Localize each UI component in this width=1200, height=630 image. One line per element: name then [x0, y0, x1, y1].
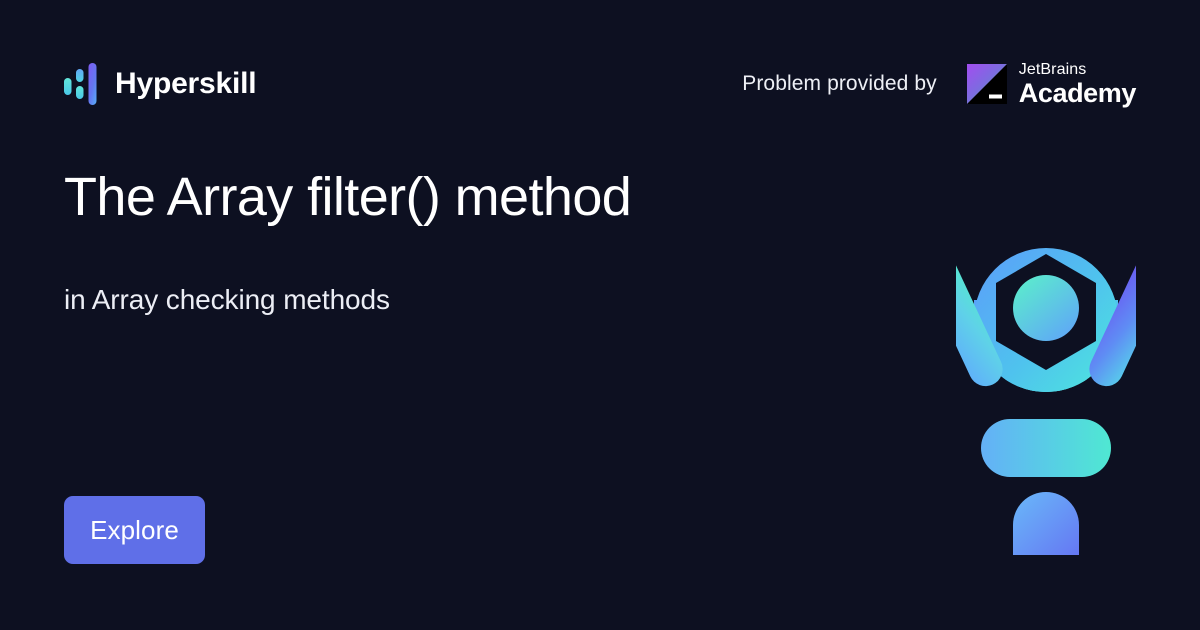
hyperskill-emblem-icon — [956, 180, 1136, 555]
card-header: Hyperskill Problem provided by — [64, 56, 1136, 112]
jetbrains-academy-logo[interactable]: JetBrains Academy — [967, 62, 1136, 107]
emblem-inner-circle — [1013, 275, 1079, 341]
provider-block: Problem provided by — [742, 62, 1136, 107]
emblem-pill — [981, 419, 1111, 477]
jetbrains-academy-wordmark: JetBrains Academy — [1019, 62, 1136, 107]
page-subtitle: in Array checking methods — [64, 283, 864, 317]
jetbrains-square-icon — [967, 64, 1007, 104]
card-content: The Array filter() method in Array check… — [64, 168, 864, 317]
problem-card: Hyperskill Problem provided by — [0, 0, 1200, 630]
page-title: The Array filter() method — [64, 168, 864, 227]
hyperskill-brand-name: Hyperskill — [115, 69, 256, 99]
emblem-bar — [1013, 492, 1079, 555]
provider-label: Problem provided by — [742, 72, 937, 96]
hyperskill-brand[interactable]: Hyperskill — [64, 63, 256, 105]
hyperskill-bars-icon — [64, 63, 98, 105]
jetbrains-word: JetBrains — [1019, 62, 1136, 78]
explore-button[interactable]: Explore — [64, 496, 205, 564]
academy-word: Academy — [1019, 80, 1136, 107]
